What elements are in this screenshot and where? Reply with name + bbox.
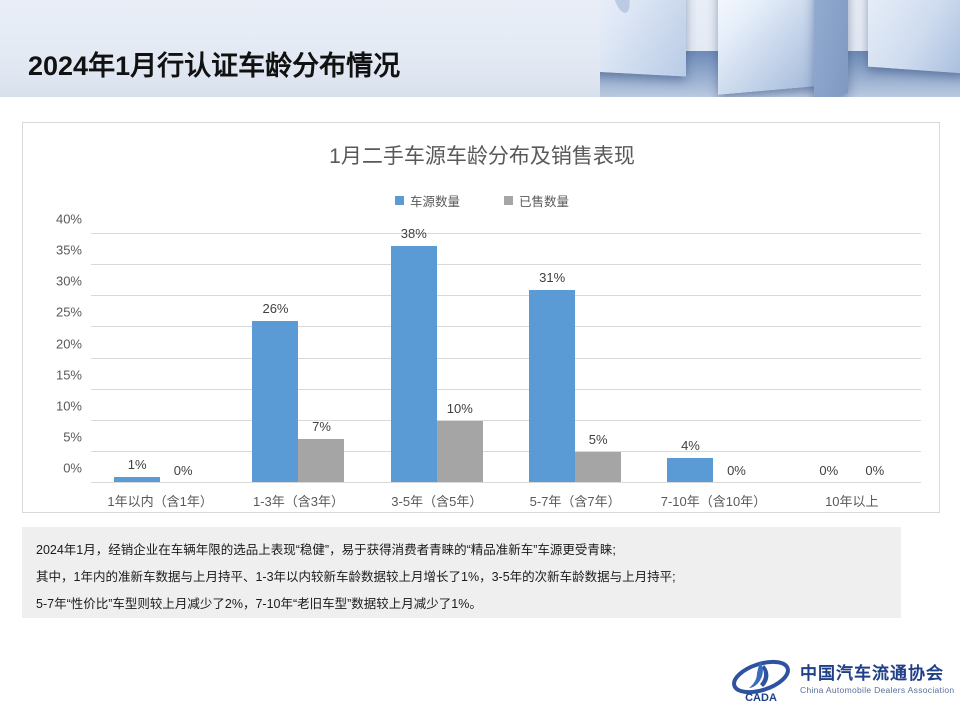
cada-logo: CADA 中国汽车流通协会 China Automobile Dealers A… xyxy=(730,652,945,708)
svg-text:CADA: CADA xyxy=(745,692,777,704)
logo-text: 中国汽车流通协会 China Automobile Dealers Associ… xyxy=(800,664,954,696)
y-axis-tick-label: 0% xyxy=(63,461,82,476)
bar-slot: 1% xyxy=(114,234,160,483)
bar-value-label: 7% xyxy=(312,419,331,434)
legend-label: 已售数量 xyxy=(519,191,569,210)
legend-item-vehicle-supply[interactable]: 车源数量 xyxy=(395,191,460,210)
bar-slot: 5% xyxy=(575,234,621,483)
y-axis-tick-label: 15% xyxy=(56,367,82,382)
bar-slot: 26% xyxy=(252,234,298,483)
bar-车源数量[interactable]: 4% xyxy=(667,458,713,483)
bar-group: 26%7% xyxy=(229,234,367,483)
summary-note-box: 2024年1月，经销企业在车辆年限的选品上表现“稳健”，易于获得消费者青睐的“精… xyxy=(22,527,901,618)
logo-name-cn: 中国汽车流通协会 xyxy=(800,664,954,684)
bar-group: 31%5% xyxy=(506,234,644,483)
note-line: 2024年1月，经销企业在车辆年限的选品上表现“稳健”，易于获得消费者青睐的“精… xyxy=(36,537,887,564)
header-decoration-cubes xyxy=(600,0,960,97)
legend-label: 车源数量 xyxy=(410,191,460,210)
bar-value-label: 1% xyxy=(128,457,147,472)
chart-plot-area: 0%5%10%15%20%25%30%35%40% 1%0%26%7%38%10… xyxy=(91,234,921,483)
slide-header: 2024年1月行认证车龄分布情况 xyxy=(0,0,960,97)
note-line: 5-7年“性价比”车型则较上月减少了2%，7-10年“老旧车型”数据较上月减少了… xyxy=(36,591,887,618)
bar-value-label: 4% xyxy=(681,438,700,453)
decorative-cube-3 xyxy=(868,0,960,73)
x-axis-category-label: 3-5年（含5年） xyxy=(368,491,506,510)
bar-value-label: 38% xyxy=(401,226,427,241)
x-axis-category-label: 7-10年（含10年） xyxy=(644,491,782,510)
chart-title: 1月二手车源车龄分布及销售表现 xyxy=(23,140,941,170)
decorative-cube-2 xyxy=(718,0,826,95)
bar-已售数量[interactable]: 10% xyxy=(437,421,483,483)
decorative-cube-1 xyxy=(600,0,686,77)
bar-slot: 10% xyxy=(437,234,483,483)
logo-name-en: China Automobile Dealers Association xyxy=(800,684,954,696)
bar-value-label: 0% xyxy=(727,463,746,478)
chart-bars: 1%0%26%7%38%10%31%5%4%0%0%0% xyxy=(91,234,921,483)
bar-value-label: 10% xyxy=(447,401,473,416)
bar-slot: 31% xyxy=(529,234,575,483)
y-axis-tick-label: 40% xyxy=(56,212,82,227)
bar-value-label: 5% xyxy=(589,432,608,447)
cada-emblem-icon: CADA xyxy=(730,655,792,705)
page-title: 2024年1月行认证车龄分布情况 xyxy=(28,44,400,83)
chart-panel: 1月二手车源车龄分布及销售表现 车源数量 已售数量 0%5%10%15%20%2… xyxy=(22,122,940,513)
bar-slot: 38% xyxy=(391,234,437,483)
y-axis-tick-label: 25% xyxy=(56,305,82,320)
bar-slot: 0% xyxy=(160,234,206,483)
world-map-shape-icon xyxy=(607,0,632,14)
chart-x-axis xyxy=(91,482,921,483)
legend-item-sold-count[interactable]: 已售数量 xyxy=(504,191,569,210)
x-axis-category-label: 5-7年（含7年） xyxy=(506,491,644,510)
y-axis-tick-label: 35% xyxy=(56,243,82,258)
bar-slot: 4% xyxy=(667,234,713,483)
bar-slot: 0% xyxy=(852,234,898,483)
bar-slot: 7% xyxy=(298,234,344,483)
note-line: 其中，1年内的准新车数据与上月持平、1-3年以内较新车龄数据较上月增长了1%，3… xyxy=(36,564,887,591)
bar-value-label: 31% xyxy=(539,270,565,285)
y-axis-tick-label: 30% xyxy=(56,274,82,289)
bar-车源数量[interactable]: 31% xyxy=(529,290,575,483)
chart-legend: 车源数量 已售数量 xyxy=(23,191,941,210)
bar-车源数量[interactable]: 38% xyxy=(391,246,437,483)
x-axis-category-label: 1-3年（含3年） xyxy=(229,491,367,510)
x-axis-category-label: 1年以内（含1年） xyxy=(91,491,229,510)
bar-group: 38%10% xyxy=(368,234,506,483)
bar-已售数量[interactable]: 7% xyxy=(298,439,344,483)
bar-车源数量[interactable]: 26% xyxy=(252,321,298,483)
chart-x-axis-labels: 1年以内（含1年）1-3年（含3年）3-5年（含5年）5-7年（含7年）7-10… xyxy=(91,491,921,510)
bar-value-label: 0% xyxy=(865,463,884,478)
y-axis-tick-label: 20% xyxy=(56,336,82,351)
bar-value-label: 0% xyxy=(819,463,838,478)
bar-group: 0%0% xyxy=(783,234,921,483)
legend-swatch-icon xyxy=(504,196,513,205)
legend-swatch-icon xyxy=(395,196,404,205)
y-axis-tick-label: 5% xyxy=(63,429,82,444)
y-axis-tick-label: 10% xyxy=(56,398,82,413)
bar-group: 4%0% xyxy=(644,234,782,483)
bar-已售数量[interactable]: 5% xyxy=(575,452,621,483)
bar-slot: 0% xyxy=(713,234,759,483)
bar-slot: 0% xyxy=(806,234,852,483)
bar-value-label: 0% xyxy=(174,463,193,478)
x-axis-category-label: 10年以上 xyxy=(783,491,921,510)
bar-value-label: 26% xyxy=(262,301,288,316)
decorative-cube-2-side xyxy=(814,0,848,97)
bar-group: 1%0% xyxy=(91,234,229,483)
